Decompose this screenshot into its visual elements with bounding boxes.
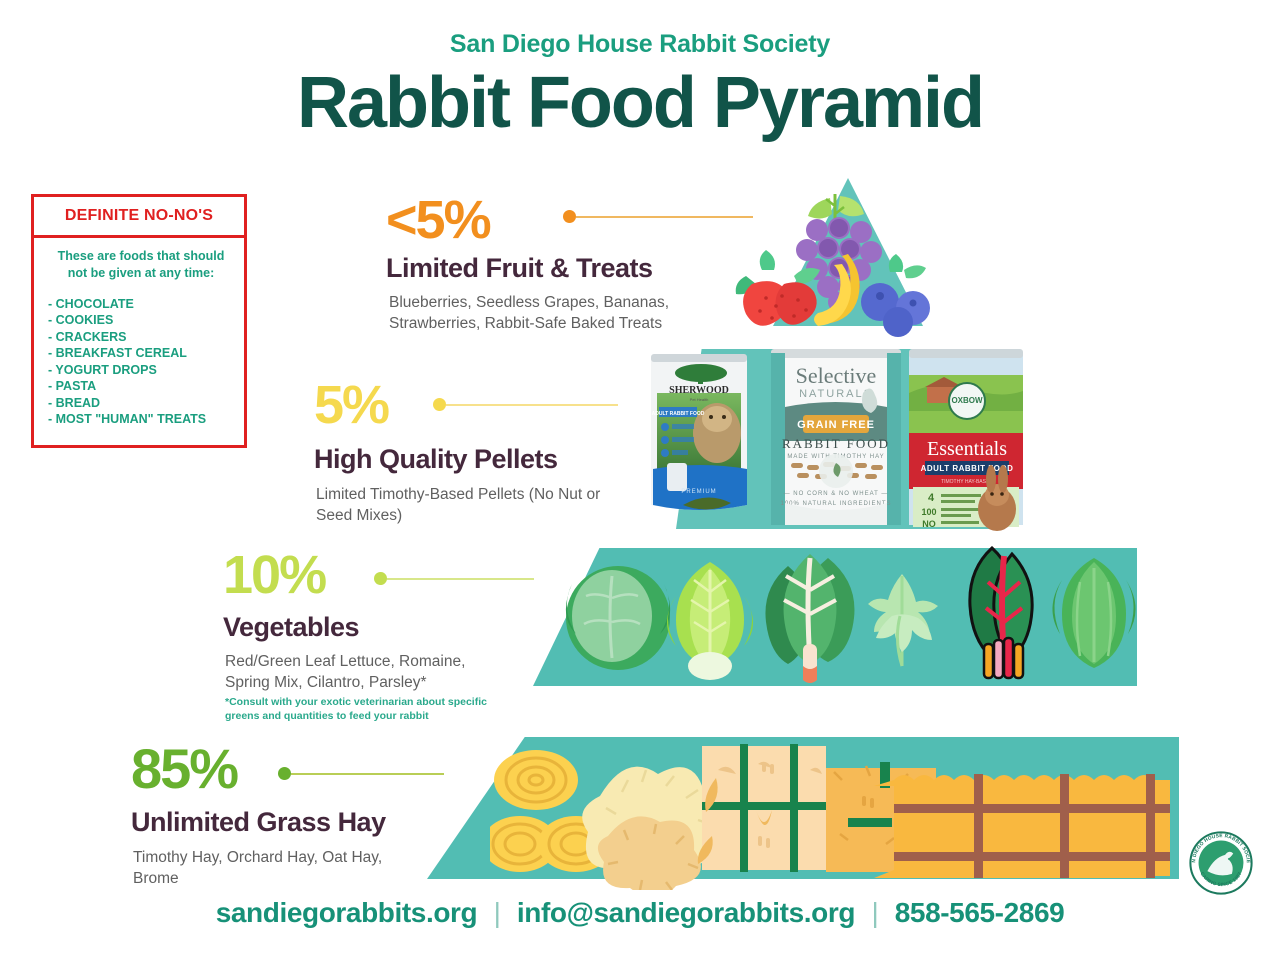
svg-text:Selective: Selective [796,363,877,388]
connector-line [291,773,444,775]
list-item: - BREAKFAST CEREAL [48,345,234,362]
svg-text:SHERWOOD: SHERWOOD [669,385,729,396]
list-item: - CHOCOLATE [48,296,234,313]
no-nos-body: These are foods that should not be given… [34,238,244,434]
hay-description: Timothy Hay, Orchard Hay, Oat Hay, Brome [133,847,413,890]
hay-connector [278,767,444,780]
no-nos-heading: DEFINITE NO-NO'S [34,197,244,238]
fruit-description: Blueberries, Seedless Grapes, Bananas, S… [389,292,699,335]
list-item: - MOST "HUMAN" TREATS [48,411,234,428]
chard-icon [765,554,854,683]
list-item: - PASTA [48,378,234,395]
infographic-canvas: San Diego House Rabbit Society Rabbit Fo… [0,0,1280,960]
connector-line [446,404,618,406]
list-item: - CRACKERS [48,329,234,346]
svg-text:NO: NO [922,519,936,529]
cabbage-icon [566,566,670,670]
society-logo: SAN DIEGO HOUSE RABBIT SOCIETY CARING SI… [1187,829,1255,897]
leaf-lettuce-icon [667,562,753,680]
phone-number[interactable]: 858-565-2869 [895,897,1065,928]
footer-contact: sandiegorabbits.org | info@sandiegorabbi… [0,897,1280,929]
svg-text:GRAIN FREE: GRAIN FREE [797,419,875,431]
list-item: - BREAD [48,395,234,412]
romaine-icon [1052,558,1135,668]
fruit-illustration [722,180,932,340]
svg-text:RABBIT FOOD: RABBIT FOOD [782,436,890,451]
kale-icon [868,574,938,666]
loose-hay-icon [582,767,720,890]
vegetables-description: Red/Green Leaf Lettuce, Romaine, Spring … [225,651,497,694]
rainbow-chard-icon [970,548,1032,678]
svg-text:4: 4 [928,492,935,504]
pellets-description: Limited Timothy-Based Pellets (No Nut or… [316,484,622,527]
hay-title: Unlimited Grass Hay [131,807,386,838]
svg-text:100: 100 [921,507,936,517]
svg-text:Essentials: Essentials [927,438,1007,460]
svg-text:OXBOW: OXBOW [951,396,983,405]
hay-percent: 85% [131,741,237,797]
svg-text:NATURALS: NATURALS [799,388,873,400]
separator: | [862,897,887,928]
pellet-bag-selective: Selective NATURALS GRAIN FREE RABBIT FOO… [771,349,901,525]
vegetables-connector [374,572,534,585]
svg-text:TIMOTHY HAY-BASED: TIMOTHY HAY-BASED [941,479,993,485]
svg-text:PREMIUM: PREMIUM [681,489,716,495]
connector-dot [433,398,446,411]
organization-name: San Diego House Rabbit Society [0,30,1280,59]
connector-dot [563,210,576,223]
connector-line [387,578,534,580]
list-item: - COOKIES [48,312,234,329]
list-item: - YOGURT DROPS [48,362,234,379]
pellets-title: High Quality Pellets [314,444,558,475]
fruit-title: Limited Fruit & Treats [386,253,653,284]
svg-text:Pet Health: Pet Health [690,397,709,402]
svg-text:— NO CORN & NO WHEAT —: — NO CORN & NO WHEAT — [784,491,889,497]
connector-dot [374,572,387,585]
pellet-bags-illustration: SHERWOOD Pet Health ADULT RABBIT FOOD PR… [641,345,1031,535]
vegetables-footnote: *Consult with your exotic veterinarian a… [225,695,495,723]
hay-illustration [490,740,1180,890]
pellets-connector [433,398,618,411]
vegetables-illustration [560,540,1140,688]
pellet-bag-oxbow: OXBOW Essentials ADULT RABBIT FOOD TIMOT… [909,349,1023,531]
svg-text:ADULT RABBIT FOOD: ADULT RABBIT FOOD [652,411,705,417]
no-nos-intro: These are foods that should not be given… [48,248,234,282]
definite-no-nos-box: DEFINITE NO-NO'S These are foods that sh… [31,194,247,448]
page-title: Rabbit Food Pyramid [0,62,1280,144]
separator: | [485,897,510,928]
fruit-percent: <5% [386,193,490,247]
email-link[interactable]: info@sandiegorabbits.org [517,897,855,928]
connector-dot [278,767,291,780]
pellets-percent: 5% [314,378,388,432]
vegetables-percent: 10% [223,548,325,602]
vegetables-title: Vegetables [223,612,359,643]
stacked-hay-icon [826,762,1170,878]
pellet-bag-sherwood: SHERWOOD Pet Health ADULT RABBIT FOOD PR… [651,354,747,510]
website-link[interactable]: sandiegorabbits.org [216,897,478,928]
